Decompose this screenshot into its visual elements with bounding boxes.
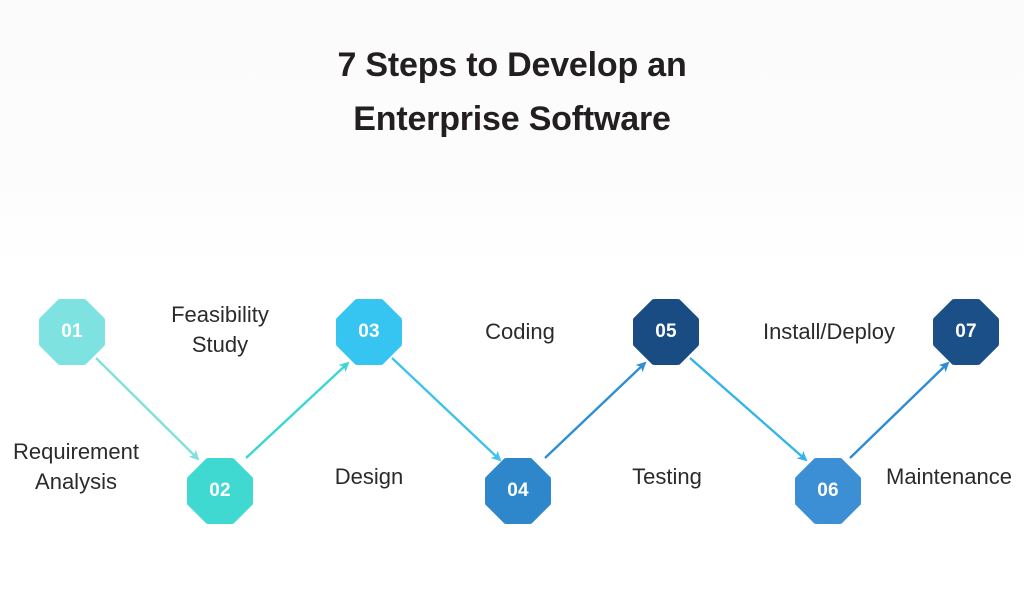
step-label-07: Maintenance [868,462,1024,492]
step-label-02: Feasibility Study [132,300,308,360]
step-label-01: Requirement Analysis [0,437,164,497]
arrow-03-to-04 [392,358,500,460]
step-node-number: 04 [507,480,529,502]
step-node-number: 02 [209,480,231,502]
step-node-05[interactable]: 05 [633,299,699,365]
step-node-07[interactable]: 07 [933,299,999,365]
step-node-number: 01 [61,321,83,343]
arrow-06-to-07 [850,363,948,458]
step-node-number: 07 [955,321,977,343]
diagram-canvas: 7 Steps to Develop an Enterprise Softwar… [0,0,1024,597]
step-label-04: Coding [432,317,608,347]
step-label-03: Design [281,462,457,492]
arrow-04-to-05 [545,363,645,458]
arrow-02-to-03 [246,363,348,458]
arrow-05-to-06 [690,358,806,460]
step-node-06[interactable]: 06 [795,458,861,524]
step-node-number: 03 [358,321,380,343]
step-label-05: Testing [579,462,755,492]
step-node-number: 05 [655,321,677,343]
step-label-06: Install/Deploy [740,317,918,347]
step-node-number: 06 [817,480,839,502]
